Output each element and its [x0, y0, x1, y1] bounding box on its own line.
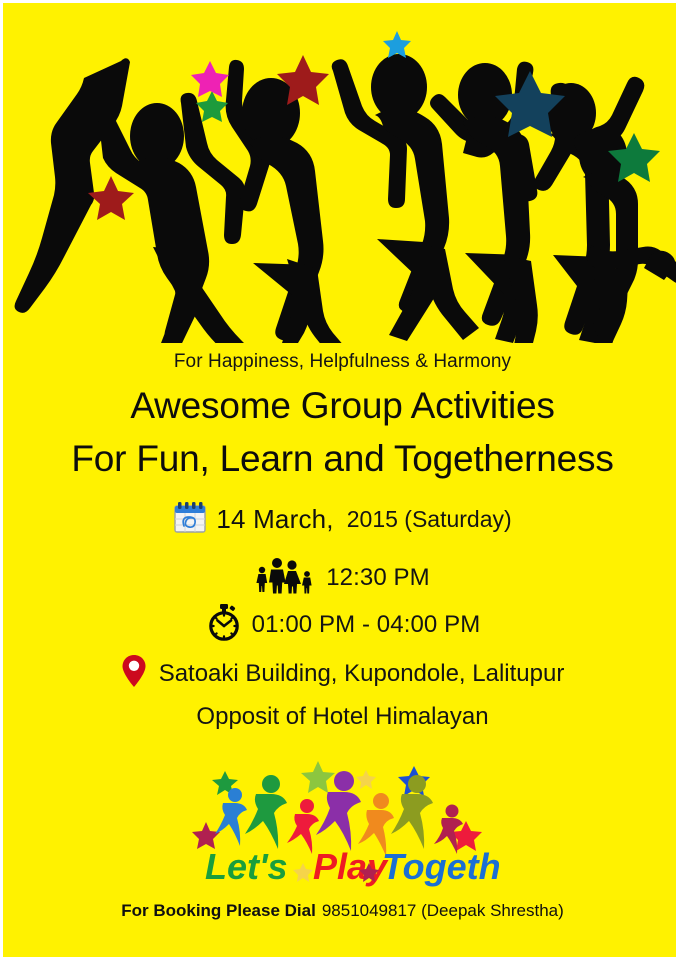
calendar-icon	[173, 500, 207, 539]
booking-phone[interactable]: 9851049817 (Deepak Shrestha)	[322, 901, 564, 920]
event-date-row: 14 March, 2015 (Saturday)	[3, 500, 679, 539]
event-date-year-weekday: 2015 (Saturday)	[347, 506, 512, 533]
audience-time-text: 12:30 PM	[326, 564, 430, 592]
venue-row-secondary: Opposit of Hotel Himalayan	[3, 703, 679, 731]
venue-row: Satoaki Building, Kupondole, Lalitupur	[3, 654, 679, 693]
event-date-day-month: 14 March,	[216, 504, 333, 535]
event-poster: For Happiness, Helpfulness & Harmony Awe…	[0, 0, 679, 960]
family-icon	[255, 556, 317, 599]
hero-silhouette-artwork	[3, 3, 679, 343]
svg-text:Let's: Let's	[205, 846, 288, 887]
audience-time-row: 12:30 PM	[3, 556, 679, 599]
svg-text:Together: Together	[382, 846, 499, 887]
location-pin-icon	[121, 654, 147, 693]
event-time-row: 01:00 PM - 04:00 PM	[3, 603, 679, 646]
venue-line-1: Satoaki Building, Kupondole, Lalitupur	[159, 660, 565, 688]
logo-figures	[215, 771, 463, 856]
venue-line-2: Opposit of Hotel Himalayan	[196, 703, 488, 731]
lets-play-together-logo: Let's Play Together	[189, 759, 499, 887]
event-time-text: 01:00 PM - 04:00 PM	[252, 611, 481, 639]
headline-line-1: Awesome Group Activities	[3, 385, 679, 427]
svg-text:Play: Play	[313, 846, 389, 887]
booking-label: For Booking Please Dial	[121, 901, 316, 920]
tagline: For Happiness, Helpfulness & Harmony	[3, 351, 679, 373]
headline-line-2: For Fun, Learn and Togetherness	[3, 438, 679, 480]
stopwatch-icon	[205, 603, 243, 646]
booking-footer: For Booking Please Dial9851049817 (Deepa…	[3, 901, 679, 921]
